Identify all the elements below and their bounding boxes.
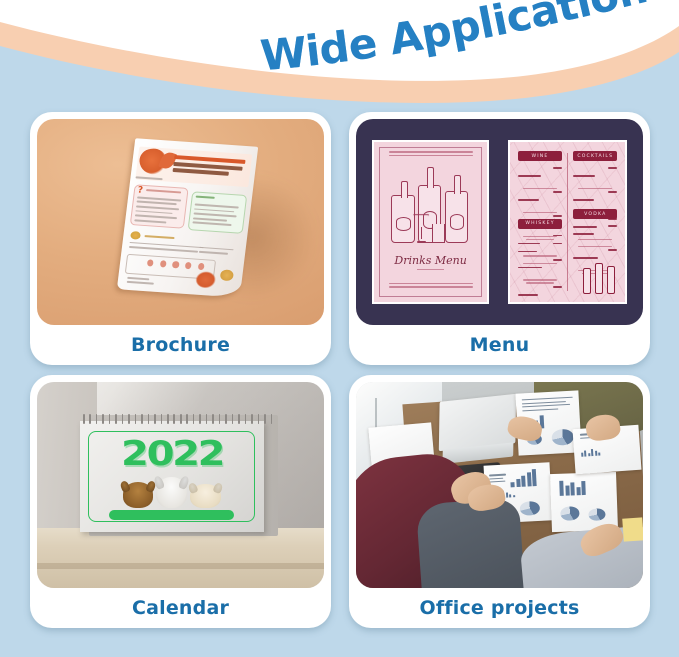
card-label-calendar: Calendar: [37, 588, 324, 628]
menu-entry: [573, 167, 617, 189]
feature-icon: [197, 263, 204, 270]
menu-entry: [518, 191, 562, 213]
feature-icon: [185, 262, 192, 269]
dogs-photo: [120, 477, 223, 508]
office-scene: [356, 382, 643, 588]
coin-icon: [130, 231, 141, 240]
pie-chart: [588, 508, 606, 521]
menu-section-wine: WINE: [518, 151, 562, 161]
bottle-icon: [445, 191, 468, 243]
menu-listing-page: WINE WHISKEY COCKTAILS: [508, 140, 627, 305]
brochure-body-line: [198, 251, 228, 255]
menu-entry: [518, 167, 562, 189]
menu-entry: [518, 235, 562, 257]
bar-chart: [560, 478, 587, 495]
header-banner: Wide Application Wide Application: [0, 0, 679, 112]
feature-icon: [147, 259, 154, 266]
feature-icon: [172, 261, 179, 268]
pie-chart: [551, 429, 573, 446]
bottle-icon: [391, 195, 415, 243]
sticky-note: [622, 517, 643, 541]
menu-cover-top-text: [389, 151, 473, 159]
desk-surface: [37, 528, 324, 588]
tumbler-glass-icon: [432, 224, 444, 243]
chart-paper: [550, 471, 618, 531]
bottle-icon: [607, 266, 615, 295]
calendar-green-bar: [109, 510, 234, 519]
brochure-body-line: [199, 246, 234, 250]
application-card-grid: ?: [30, 112, 650, 647]
bottle-icon: [595, 263, 603, 295]
menu-cover-bottom-text: [389, 283, 473, 291]
menu-entries-whiskey: [518, 235, 562, 305]
card-office-projects[interactable]: Office projects: [349, 375, 650, 628]
menu-cover-subtitle: [417, 269, 444, 270]
fox-mascot-small-icon: [195, 271, 215, 288]
bottles-illustration: [390, 171, 472, 243]
person-seated-jeans: [416, 498, 526, 588]
card-label-brochure: Brochure: [37, 325, 324, 365]
menu-section-vodka: VODKA: [573, 209, 617, 219]
desk-edge: [37, 563, 324, 569]
brochure-scene: ?: [37, 119, 324, 325]
seal-stamp-icon: [220, 269, 234, 280]
menu-section-whiskey: WHISKEY: [518, 219, 562, 229]
brochure-footer-line: [127, 276, 149, 279]
banner-swoosh-svg: [0, 0, 679, 112]
mini-bottles-illustration: [581, 257, 618, 294]
chart-text-lines: [522, 397, 573, 414]
card-calendar[interactable]: 2022 Calendar: [30, 375, 331, 628]
bottle-icon: [583, 268, 591, 295]
calendar-sheet: 2022: [80, 421, 264, 532]
card-menu[interactable]: Drinks Menu WINE: [349, 112, 650, 365]
menu-section-cocktails: COCKTAILS: [573, 151, 617, 161]
menu-scene: Drinks Menu WINE: [356, 119, 643, 325]
laptop-icon: [439, 394, 517, 452]
card-brochure[interactable]: ?: [30, 112, 331, 365]
dog-white-terrier-icon: [156, 477, 187, 508]
menu-entry: [518, 259, 562, 284]
menu-cover-title: Drinks Menu: [374, 254, 488, 267]
bar-chart: [510, 469, 537, 488]
dog-beagle-icon: [123, 482, 154, 508]
poster-root: Wide Application Wide Application: [0, 0, 679, 657]
cocktail-glass-icon: [413, 214, 429, 243]
calendar-scene: 2022: [37, 382, 324, 588]
menu-cover-page: Drinks Menu: [372, 140, 490, 305]
spiral-binding: [83, 414, 272, 424]
bar-chart: [581, 448, 601, 457]
brochure-footer-line: [126, 281, 153, 285]
card-label-office-projects: Office projects: [356, 588, 643, 628]
card-label-menu: Menu: [356, 325, 643, 365]
menu-entry: [518, 286, 562, 304]
pie-chart: [520, 501, 540, 516]
calendar-year: 2022: [81, 437, 263, 481]
brochure-highlight-line: [144, 235, 174, 239]
feature-icon: [160, 260, 167, 267]
menu-entry: [573, 225, 617, 247]
brochure-sheet: ?: [117, 138, 259, 298]
pie-chart: [561, 506, 580, 520]
dog-cream-puppy-icon: [190, 484, 221, 508]
menu-column-divider: [567, 153, 568, 291]
